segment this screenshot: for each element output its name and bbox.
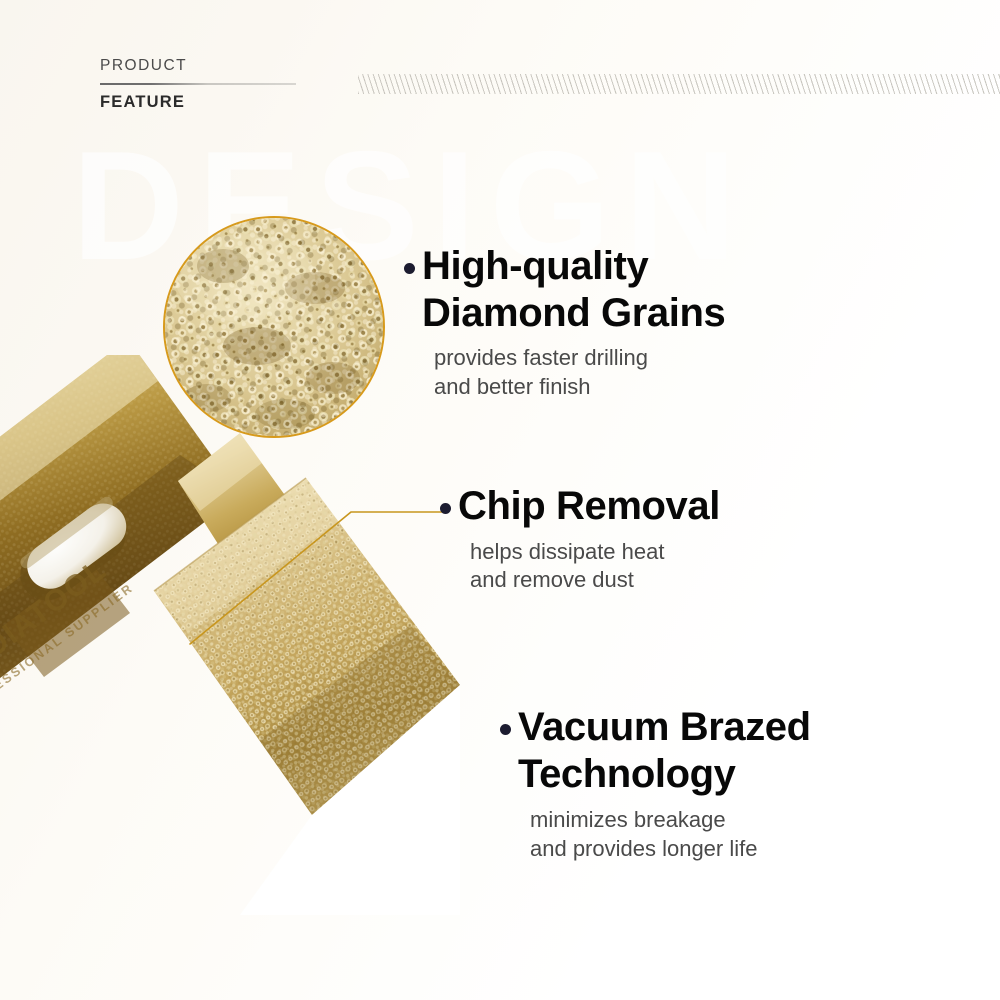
feature-title: Vacuum Brazed Technology <box>518 704 811 798</box>
feature-description: minimizes breakage and provides longer l… <box>530 806 811 862</box>
header-kicker: PRODUCT <box>100 56 310 75</box>
feature-heading-row: Vacuum Brazed Technology <box>500 704 811 798</box>
feature-description: helps dissipate heat and remove dust <box>470 538 720 594</box>
feature-heading-row: Chip Removal <box>440 483 720 530</box>
product-feature-infographic: DESIGN PRODUCT FEATURE <box>0 0 1000 1000</box>
feature-description: provides faster drilling and better fini… <box>434 344 725 400</box>
bullet-dot-icon <box>500 724 511 735</box>
feature-block-chip-removal: Chip Removal helps dissipate heat and re… <box>440 483 720 595</box>
header-title: FEATURE <box>100 92 310 113</box>
macro-inset-diamond-grains <box>163 216 385 438</box>
product-image-drill-bit: SHDIATOOL PROFESSIONAL SUPPLIER <box>0 355 460 915</box>
feature-heading-row: High-quality Diamond Grains <box>404 243 725 337</box>
feature-block-vacuum-brazed: Vacuum Brazed Technology minimizes break… <box>500 704 811 863</box>
header-divider <box>100 83 296 85</box>
bullet-dot-icon <box>404 263 415 274</box>
feature-title: Chip Removal <box>458 483 720 530</box>
feature-title: High-quality Diamond Grains <box>422 243 725 337</box>
hatch-pattern-decoration <box>358 74 1000 94</box>
bullet-dot-icon <box>440 503 451 514</box>
header: PRODUCT FEATURE <box>100 56 310 113</box>
feature-block-diamond-grains: High-quality Diamond Grains provides fas… <box>404 243 725 401</box>
